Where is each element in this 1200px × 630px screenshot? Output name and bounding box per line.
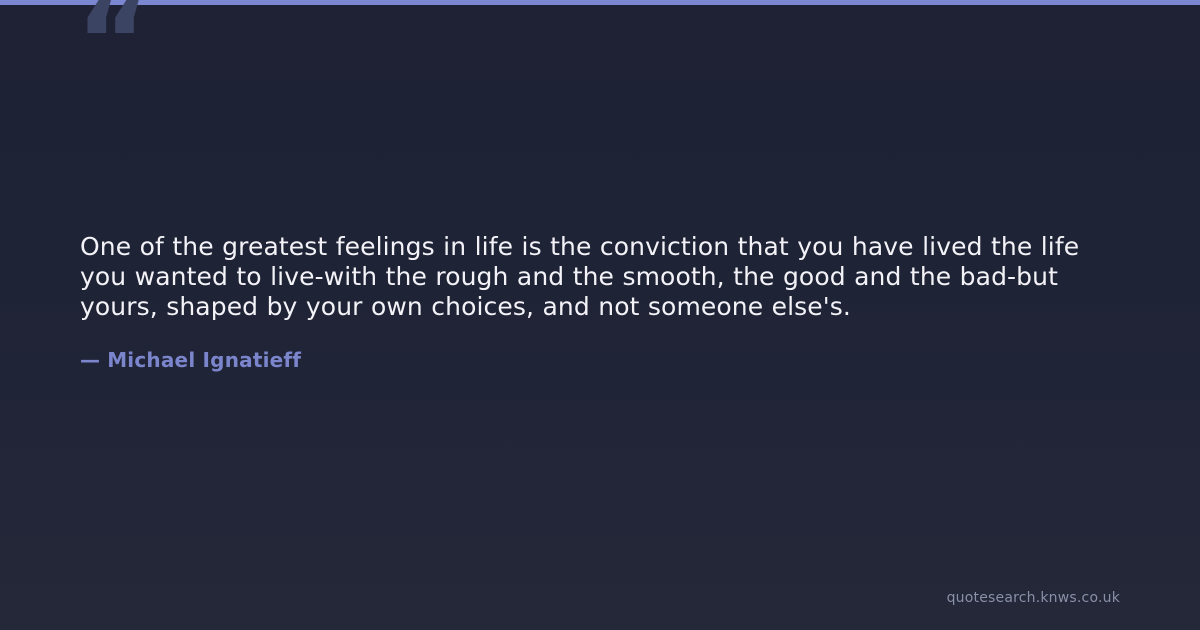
site-watermark: quotesearch.knws.co.uk — [947, 590, 1120, 606]
attribution-author: Michael Ignatieff — [107, 348, 301, 372]
quote-text: One of the greatest feelings in life is … — [80, 232, 1100, 322]
open-quote-icon: “ — [76, 0, 148, 98]
top-accent-bar — [0, 0, 1200, 5]
attribution-dash: — — [80, 348, 100, 372]
quote-attribution: —Michael Ignatieff — [80, 348, 301, 372]
quote-card: “ One of the greatest feelings in life i… — [0, 0, 1200, 630]
